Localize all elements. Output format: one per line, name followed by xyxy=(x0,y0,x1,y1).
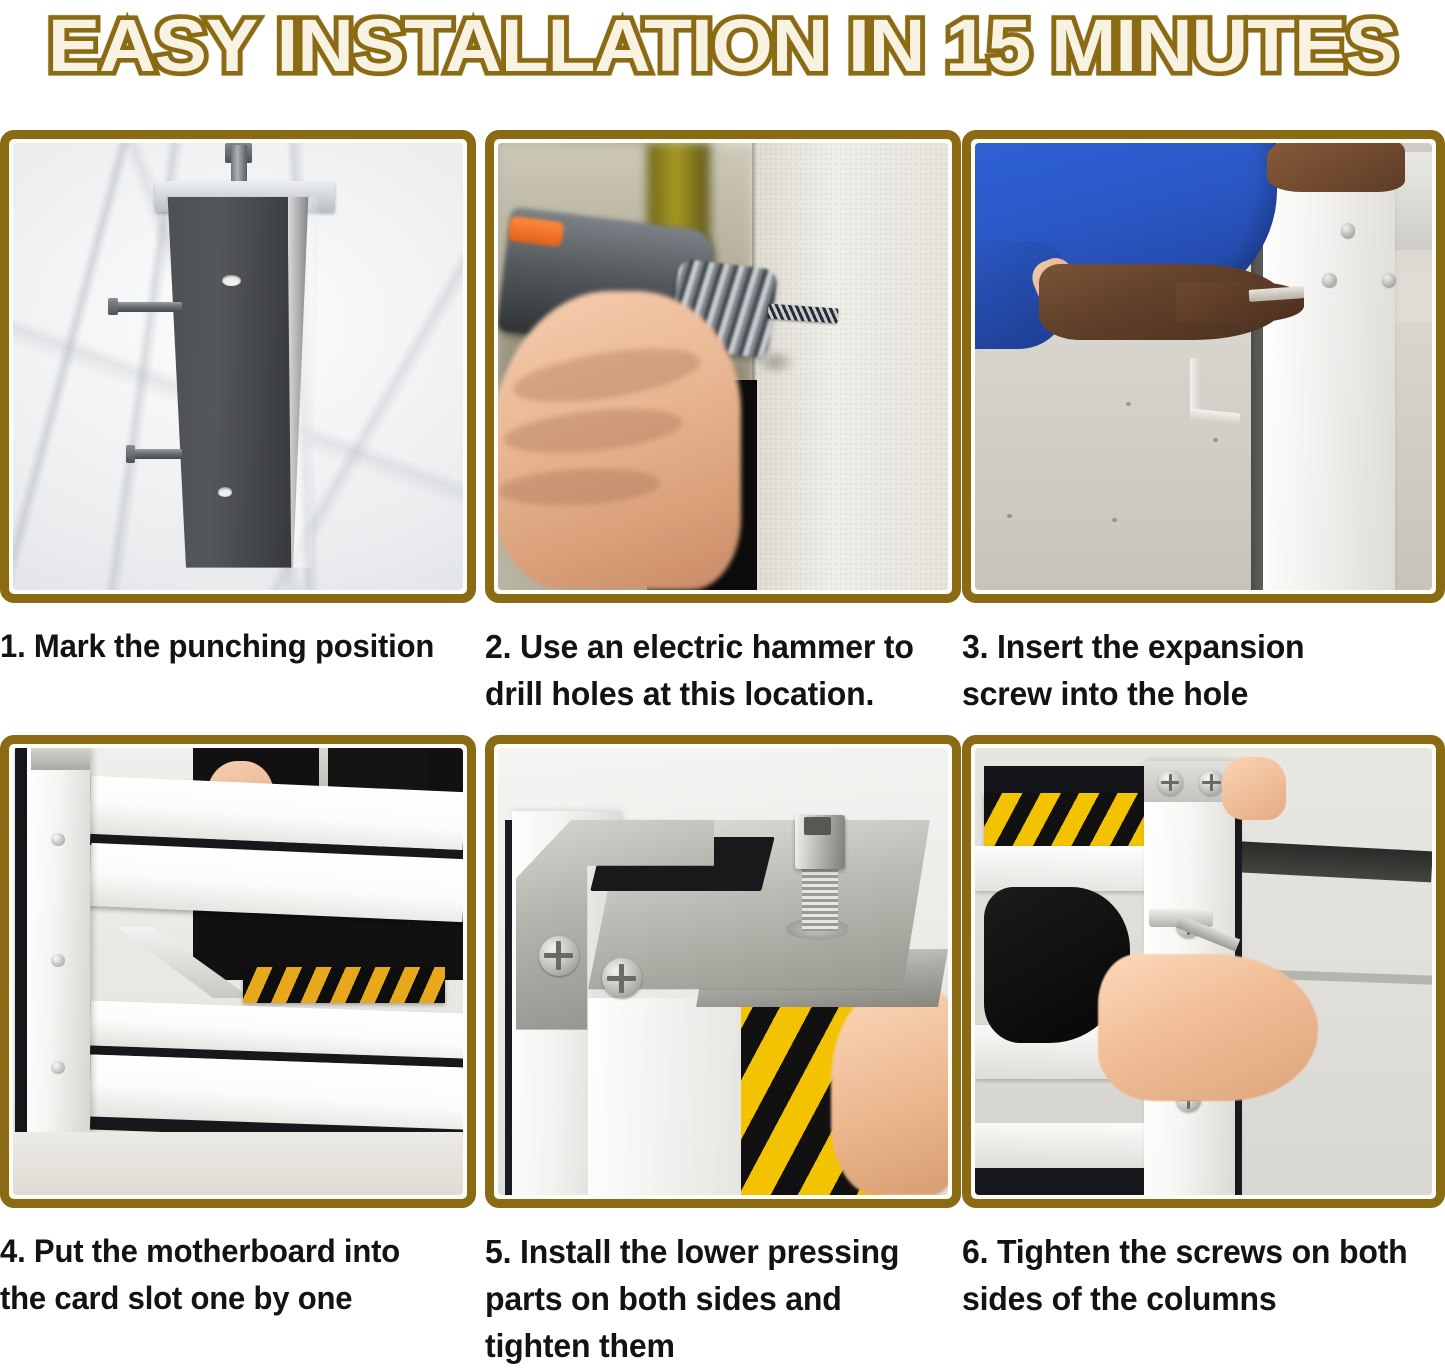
photo-pressing-clamp xyxy=(498,748,948,1195)
photo-frame-1 xyxy=(0,130,476,603)
photo-frame-3 xyxy=(962,130,1445,603)
step-card-1: 1. Mark the punching position xyxy=(0,130,476,670)
step-card-6: 6. Tighten the screws on both sides of t… xyxy=(962,735,1445,1322)
photo-frame-5 xyxy=(485,735,961,1208)
photo-marking-template xyxy=(13,143,463,590)
steps-grid: 1. Mark the punching position xyxy=(0,92,1445,1352)
photo-boards-in-slots xyxy=(13,748,463,1195)
step-caption-5: 5. Install the lower pressing parts on b… xyxy=(485,1228,947,1369)
photo-frame-4 xyxy=(0,735,476,1208)
photo-expansion-screw xyxy=(975,143,1432,590)
photo-tighten-screws xyxy=(975,748,1432,1195)
step-caption-6: 6. Tighten the screws on both sides of t… xyxy=(962,1228,1431,1322)
step-card-2: 2. Use an electric hammer to drill holes… xyxy=(485,130,961,717)
step-caption-4: 4. Put the motherboard into the card slo… xyxy=(0,1228,462,1322)
step-caption-1: 1. Mark the punching position xyxy=(0,623,462,670)
installation-guide-page: EASY INSTALLATION IN 15 MINUTES xyxy=(0,0,1445,1352)
page-title: EASY INSTALLATION IN 15 MINUTES xyxy=(48,9,1397,83)
title-banner: EASY INSTALLATION IN 15 MINUTES xyxy=(0,0,1445,92)
step-card-5: 5. Install the lower pressing parts on b… xyxy=(485,735,961,1369)
step-card-4: 4. Put the motherboard into the card slo… xyxy=(0,735,476,1322)
step-caption-3: 3. Insert the expansion screw into the h… xyxy=(962,623,1431,717)
photo-drilling-wall xyxy=(498,143,948,590)
step-card-3: 3. Insert the expansion screw into the h… xyxy=(962,130,1445,717)
step-caption-2: 2. Use an electric hammer to drill holes… xyxy=(485,623,947,717)
photo-frame-6 xyxy=(962,735,1445,1208)
photo-frame-2 xyxy=(485,130,961,603)
